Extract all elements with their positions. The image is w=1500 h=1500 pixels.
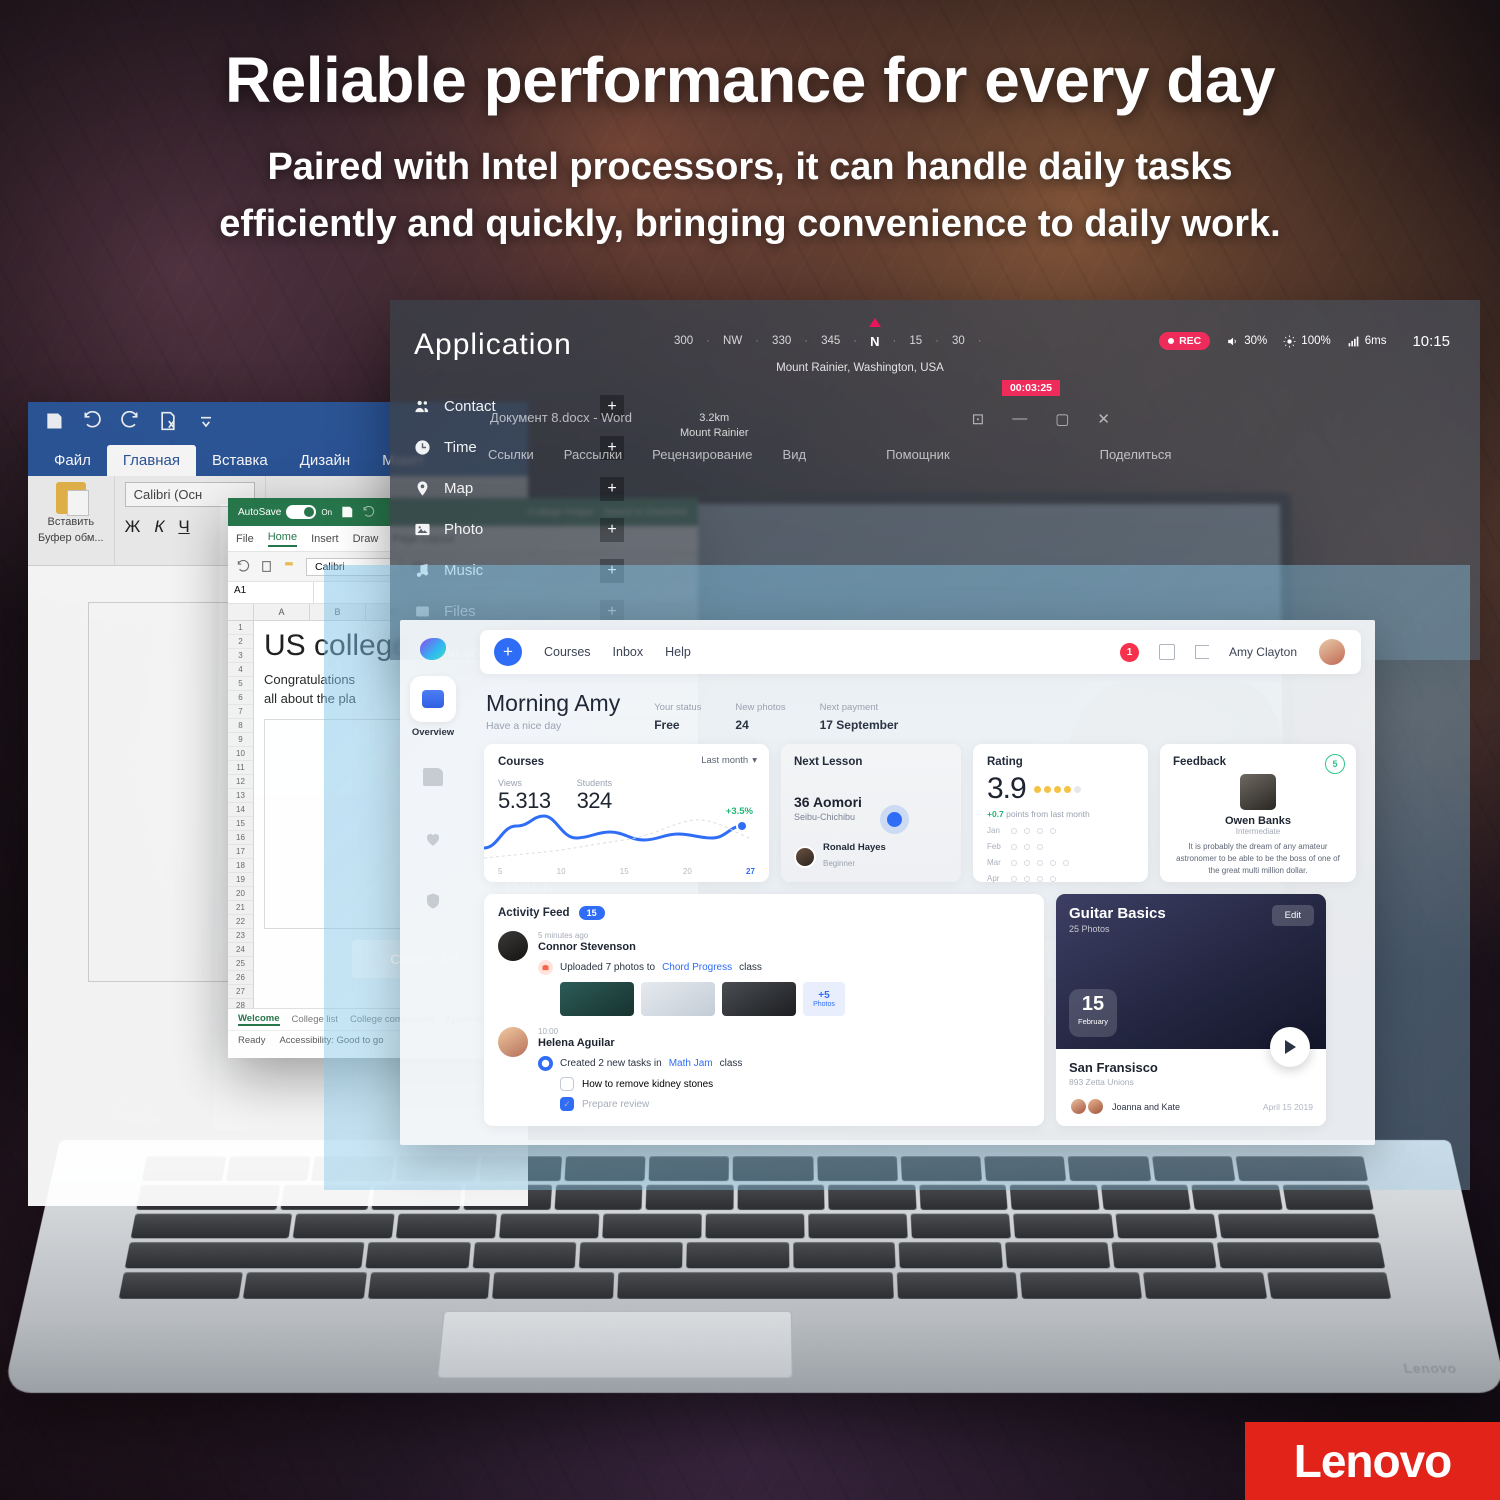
feedback-author: Owen Banks — [1173, 815, 1343, 827]
key-shift-right[interactable] — [1217, 1243, 1385, 1269]
page-title: Reliable performance for every day — [0, 46, 1500, 115]
key[interactable] — [293, 1213, 395, 1238]
lesson-teacher[interactable]: Ronald Hayes Beginner — [794, 842, 886, 871]
activity-action-suffix: class — [739, 962, 762, 973]
notification-badge[interactable]: 1 — [1120, 643, 1139, 662]
map-distance: 3.2km — [680, 412, 748, 424]
rating-dot — [1054, 786, 1061, 793]
edit-button[interactable]: Edit — [1272, 905, 1314, 926]
key[interactable] — [602, 1213, 701, 1238]
activity-feed-card[interactable]: Activity Feed 15 5 minutes ago Connor St… — [484, 894, 1044, 1126]
feedback-card-title: Feedback — [1173, 756, 1343, 768]
next-lesson-card[interactable]: Next Lesson 36 Aomori Seibu-Chichibu Ron… — [781, 744, 961, 882]
month-dot — [1037, 828, 1043, 834]
dashboard-sidebar[interactable]: Overview — [400, 620, 466, 1145]
row-header[interactable]: 2 — [228, 635, 253, 649]
autosave-state: On — [321, 508, 332, 517]
hero-text-block: Reliable performance for every day Paire… — [0, 46, 1500, 253]
brightness-icon — [1283, 335, 1296, 348]
chevron-down-icon: ▾ — [752, 755, 757, 766]
play-button[interactable] — [1270, 1027, 1310, 1067]
task-icon — [538, 1056, 553, 1071]
autosave-label: AutoSave — [238, 507, 281, 518]
signal-icon — [1347, 335, 1360, 348]
activity-action-link[interactable]: Math Jam — [669, 1058, 713, 1069]
key[interactable] — [899, 1243, 1003, 1269]
paste-button[interactable]: Вставить — [38, 482, 104, 528]
key[interactable] — [1115, 1213, 1217, 1238]
keyboard-row — [125, 1243, 1386, 1269]
activity-item[interactable]: 5 minutes ago Connor Stevenson Uploaded … — [498, 931, 1030, 1016]
latency-value: 6ms — [1365, 335, 1387, 347]
hero-subtitle: Paired with Intel processors, it can han… — [0, 139, 1500, 253]
row-header[interactable]: 4 — [228, 663, 253, 677]
feedback-quote: It is probably the dream of any amateur … — [1173, 841, 1343, 877]
rating-stars — [1034, 786, 1081, 793]
stat-value: 17 September — [820, 718, 899, 732]
clipboard-icon[interactable] — [260, 560, 273, 573]
rating-month-row: Apr — [987, 874, 1134, 883]
key[interactable] — [706, 1213, 805, 1238]
key-arrows[interactable] — [1143, 1272, 1266, 1298]
window-controls[interactable]: ⊡ — ▢ ✕ — [972, 410, 1110, 428]
dashboard-cards-row: Courses Last month ▾ Views 5.313 Student… — [480, 744, 1361, 882]
compass-dot: · — [804, 335, 808, 347]
row-header[interactable]: 12 — [228, 775, 253, 789]
key-win[interactable] — [368, 1272, 490, 1298]
month-dot — [1011, 876, 1017, 882]
key[interactable] — [910, 1213, 1010, 1238]
lesson-sub: Seibu-Chichibu — [794, 812, 948, 822]
user-name[interactable]: Amy Clayton — [1229, 645, 1297, 659]
telemetry-status-group: REC 30% 100% 6ms 10:15 — [1159, 332, 1462, 350]
sidebar-item-favorites[interactable] — [410, 816, 456, 862]
lenovo-logo-badge: Lenovo — [1245, 1422, 1500, 1500]
app-item-photo[interactable]: Photo + — [414, 509, 660, 550]
rating-month-row: Jan — [987, 826, 1134, 835]
status-ready: Ready — [238, 1035, 265, 1046]
row-header[interactable]: 17 — [228, 845, 253, 859]
activity-user: Connor Stevenson — [538, 941, 1030, 953]
activity-thumbnails[interactable]: +5 Photos — [538, 982, 1030, 1016]
save-icon[interactable] — [340, 505, 354, 519]
row-header[interactable]: 19 — [228, 873, 253, 887]
rec-label: REC — [1179, 335, 1201, 347]
rating-month-row: Feb — [987, 842, 1134, 851]
row-header[interactable]: 18 — [228, 859, 253, 873]
axis-tick: 15 — [620, 867, 629, 876]
sidebar-item-overview[interactable] — [410, 676, 456, 722]
dashboard-topbar[interactable]: + Courses Inbox Help 1 Amy Clayton — [480, 630, 1361, 674]
word-tab-view[interactable]: Вид — [783, 447, 807, 462]
more-photos-count: +5 — [818, 990, 829, 1001]
folder-icon — [423, 768, 443, 786]
bold-button[interactable]: Ж — [125, 517, 141, 537]
month-label: Feb — [987, 842, 1004, 851]
more-photos-label: Photos — [813, 1001, 835, 1008]
task-label: How to remove kidney stones — [582, 1079, 713, 1090]
play-icon — [1285, 1040, 1296, 1054]
save-icon[interactable] — [44, 411, 64, 431]
stat-label: Next payment — [820, 702, 899, 713]
greeting-subtitle: Have a nice day — [486, 720, 620, 732]
courses-card[interactable]: Courses Last month ▾ Views 5.313 Student… — [484, 744, 769, 882]
avatar — [1240, 774, 1276, 810]
excel-row-headers: 1234567891011121314151617181920212223242… — [228, 621, 254, 1008]
telemetry-timer: 00:03:25 — [1002, 380, 1060, 396]
activity-feed-header: Activity Feed 15 — [498, 906, 1030, 920]
key[interactable] — [1005, 1243, 1110, 1269]
key-fn[interactable] — [243, 1272, 366, 1298]
activity-feed-title: Activity Feed — [498, 907, 570, 919]
lesson-name: 36 Aomori — [794, 794, 948, 810]
pin-icon — [414, 480, 431, 497]
row-header[interactable]: 26 — [228, 971, 253, 985]
row-header[interactable]: 6 — [228, 691, 253, 705]
rating-month-row: Mar — [987, 858, 1134, 867]
row-header[interactable]: 14 — [228, 803, 253, 817]
month-label: Apr — [987, 874, 1004, 883]
activity-action-link[interactable]: Chord Progress — [662, 962, 732, 973]
word-clipboard-group[interactable]: Вставить Буфер обм... — [28, 476, 115, 565]
paste-label: Вставить — [47, 516, 94, 528]
map-distance-block: 3.2km Mount Rainier — [680, 412, 748, 439]
word-share-button[interactable]: Поделиться — [1100, 447, 1172, 462]
key-capslock[interactable] — [131, 1213, 293, 1238]
row-header[interactable]: 24 — [228, 943, 253, 957]
rec-dot-icon — [1168, 338, 1174, 344]
key-shift[interactable] — [125, 1243, 365, 1269]
rating-dot — [1034, 786, 1041, 793]
compass-345: 345 — [821, 335, 840, 347]
lenovo-wordmark: Lenovo — [1294, 1434, 1452, 1488]
compass-330: 330 — [772, 335, 791, 347]
app-add-photo-button[interactable]: + — [600, 518, 624, 542]
stat-label: Your status — [654, 702, 701, 713]
guitar-card-date: April 15 2019 — [1263, 1102, 1313, 1112]
trackpad[interactable] — [437, 1311, 793, 1378]
checkbox-checked[interactable]: ✓ — [560, 1097, 574, 1111]
lesson-card-title: Next Lesson — [794, 756, 948, 768]
key[interactable] — [1111, 1243, 1217, 1269]
activity-action-suffix: class — [720, 1058, 743, 1069]
stat-next-payment: Next payment 17 September — [820, 702, 899, 732]
photo-thumbnail[interactable] — [560, 982, 634, 1016]
avatar — [1086, 1097, 1105, 1116]
word-helper-button[interactable]: Помощник — [886, 447, 950, 462]
nav-courses[interactable]: Courses — [544, 645, 591, 659]
key-ctrl[interactable] — [119, 1272, 243, 1298]
row-header[interactable]: 11 — [228, 761, 253, 775]
paste-icon — [56, 482, 86, 514]
more-icon[interactable] — [196, 411, 216, 431]
close-icon[interactable]: ✕ — [1097, 410, 1110, 428]
key[interactable] — [808, 1213, 907, 1238]
stat-value: 24 — [735, 718, 785, 732]
key[interactable] — [686, 1243, 789, 1269]
volume-value: 30% — [1244, 335, 1267, 347]
feedback-author-level: Intermediate — [1173, 827, 1343, 836]
status-badge-rec: REC — [1159, 332, 1210, 350]
row-header[interactable]: 20 — [228, 887, 253, 901]
autosave-switch[interactable] — [286, 505, 316, 519]
telemetry-bar: 300 · NW · 330 · 345 · N · 15 · 30 · REC… — [660, 300, 1480, 420]
sidebar-item-folder[interactable] — [410, 754, 456, 800]
key[interactable] — [499, 1213, 599, 1238]
month-dot — [1011, 860, 1017, 866]
hero-subtitle-line-1: Paired with Intel processors, it can han… — [0, 139, 1500, 196]
guitar-card-people: Joanna and Kate April 15 2019 — [1069, 1097, 1313, 1116]
undo-icon[interactable] — [362, 506, 375, 519]
app-item-label: Photo — [444, 521, 483, 538]
camera-icon — [538, 960, 553, 975]
dashboard-main[interactable]: + Courses Inbox Help 1 Amy Clayton Morni… — [466, 620, 1375, 1145]
dashboard-lower-row: Activity Feed 15 5 minutes ago Connor St… — [480, 882, 1361, 1126]
restore-icon[interactable]: ⊡ — [972, 410, 985, 428]
key[interactable] — [579, 1243, 682, 1269]
keyboard-row — [119, 1272, 1391, 1298]
name-box[interactable]: A1 — [228, 582, 314, 603]
row-header[interactable]: 25 — [228, 957, 253, 971]
nav-help[interactable]: Help — [665, 645, 691, 659]
excel-tab-insert[interactable]: Insert — [311, 533, 339, 545]
compass-dot: · — [978, 335, 982, 347]
month-dot — [1063, 860, 1069, 866]
app-logo-icon — [420, 638, 446, 660]
month-label: Mar — [987, 858, 1004, 867]
more-photos-button[interactable]: +5 Photos — [803, 982, 845, 1016]
avatar[interactable] — [1317, 637, 1347, 667]
avatar — [498, 931, 528, 961]
activity-item[interactable]: 10:00 Helena Aguilar Created 2 new tasks… — [498, 1027, 1030, 1111]
axis-tick: 5 — [498, 867, 502, 876]
key-alt-right[interactable] — [896, 1272, 1017, 1298]
compass-15: 15 — [909, 335, 922, 347]
brightness-indicator: 100% — [1283, 335, 1330, 348]
keyboard-row — [131, 1213, 1380, 1238]
heart-icon — [423, 830, 443, 848]
activity-action-prefix: Created 2 new tasks in — [560, 1058, 662, 1069]
compass-dot: · — [755, 335, 759, 347]
axis-tick: 20 — [683, 867, 692, 876]
rating-card-title: Rating — [987, 756, 1134, 768]
key-alt[interactable] — [492, 1272, 613, 1298]
key[interactable] — [1013, 1213, 1114, 1238]
date-day: 15 — [1069, 994, 1117, 1014]
task-row[interactable]: How to remove kidney stones — [538, 1077, 1030, 1091]
row-header[interactable]: 7 — [228, 705, 253, 719]
guitar-card-people-names: Joanna and Kate — [1112, 1102, 1180, 1112]
compass-30: 30 — [952, 335, 965, 347]
feedback-card[interactable]: Feedback 5 Owen Banks Intermediate It is… — [1160, 744, 1356, 882]
select-all-corner[interactable] — [228, 604, 254, 620]
clipboard-group-label: Буфер обм... — [38, 532, 104, 544]
courses-x-axis: 5 10 15 20 27 — [498, 867, 755, 876]
month-label: Jan — [987, 826, 1004, 835]
checkbox-unchecked[interactable] — [560, 1077, 574, 1091]
row-header[interactable]: 23 — [228, 929, 253, 943]
flag-icon[interactable] — [1195, 645, 1209, 659]
shield-icon — [424, 891, 442, 911]
row-header[interactable]: 10 — [228, 747, 253, 761]
row-header[interactable]: 28 — [228, 999, 253, 1008]
axis-tick-current: 27 — [746, 867, 755, 876]
nav-inbox[interactable]: Inbox — [613, 645, 644, 659]
italic-button[interactable]: К — [154, 517, 164, 537]
month-dot — [1024, 860, 1030, 866]
key[interactable] — [396, 1213, 497, 1238]
topbar-right-group[interactable]: 1 Amy Clayton — [1120, 637, 1347, 667]
rating-delta-text: points from last month — [1006, 809, 1090, 819]
month-dot — [1011, 828, 1017, 834]
activity-count-badge: 15 — [579, 906, 605, 920]
compass-dot: · — [935, 335, 939, 347]
latency-indicator: 6ms — [1347, 335, 1387, 348]
guitar-card-date-badge: 15 February — [1069, 989, 1117, 1037]
greeting-text: Morning Amy Have a nice day — [486, 690, 620, 732]
avatar — [794, 846, 816, 868]
dashboard-window[interactable]: Overview + Courses Inbox Help 1 Amy Clay… — [400, 620, 1375, 1145]
application-title: Application — [414, 328, 660, 362]
key-arrows[interactable] — [1267, 1272, 1391, 1298]
column-header-a[interactable]: A — [254, 604, 310, 620]
photo-thumbnail[interactable] — [722, 982, 796, 1016]
row-header[interactable]: 15 — [228, 817, 253, 831]
rating-delta-value: +0.7 — [987, 809, 1004, 819]
avatar — [498, 1027, 528, 1057]
undo-icon[interactable] — [82, 411, 102, 431]
key-enter[interactable] — [1217, 1213, 1379, 1238]
underline-button[interactable]: Ч — [178, 517, 189, 537]
key-ctrl-right[interactable] — [1020, 1272, 1142, 1298]
greeting-title: Morning Amy — [486, 690, 620, 717]
telemetry-location: Mount Rainier, Washington, USA — [660, 362, 1060, 374]
word-tab-file[interactable]: Файл — [38, 445, 107, 476]
activity-action: Created 2 new tasks in Math Jam class — [538, 1056, 1030, 1071]
guitar-card-photo: Guitar Basics 25 Photos Edit 15 February — [1056, 894, 1326, 1049]
compass-nw: NW — [723, 335, 742, 347]
row-header[interactable]: 13 — [228, 789, 253, 803]
volume-icon — [1226, 335, 1239, 348]
sheet-tab-welcome[interactable]: Welcome — [238, 1013, 280, 1026]
metric-label: Students — [577, 778, 613, 788]
word-tab-design[interactable]: Дизайн — [284, 445, 366, 476]
row-header[interactable]: 8 — [228, 719, 253, 733]
rating-delta: +0.7 points from last month — [987, 809, 1134, 819]
sidebar-item-security[interactable] — [410, 878, 456, 924]
axis-tick: 10 — [557, 867, 566, 876]
hero-subtitle-line-2: efficiently and quickly, bringing conven… — [0, 196, 1500, 253]
activity-user: Helena Aguilar — [538, 1037, 1030, 1049]
activity-time: 5 minutes ago — [538, 931, 1030, 940]
feedback-count-badge: 5 — [1325, 754, 1345, 774]
key[interactable] — [793, 1243, 896, 1269]
compass-dot: · — [706, 335, 710, 347]
word-tab-review[interactable]: Рецензирование — [652, 447, 752, 462]
rating-card[interactable]: Rating 3.9 +0.7 points from last month — [973, 744, 1148, 882]
rating-score-row: 3.9 — [987, 772, 1134, 806]
add-button[interactable]: + — [494, 638, 522, 666]
rating-dot — [1064, 786, 1071, 793]
month-dot — [1037, 876, 1043, 882]
row-header[interactable]: 22 — [228, 915, 253, 929]
key-space[interactable] — [617, 1272, 894, 1298]
row-header[interactable]: 27 — [228, 985, 253, 999]
brightness-value: 100% — [1301, 335, 1330, 347]
task-label: Prepare review — [582, 1099, 649, 1110]
rating-dot — [1044, 786, 1051, 793]
month-dot — [1024, 876, 1030, 882]
word-document-titlebar-overlay: Документ 8.docx - Word Ссылки Рассылки Р… — [466, 404, 1126, 476]
teacher-level: Beginner — [823, 859, 855, 868]
export-icon[interactable] — [158, 411, 178, 431]
task-row[interactable]: ✓ Prepare review — [538, 1097, 1030, 1111]
guitar-basics-card[interactable]: Guitar Basics 25 Photos Edit 15 February… — [1056, 894, 1326, 1126]
row-header[interactable]: 21 — [228, 901, 253, 915]
activity-action-prefix: Uploaded 7 photos to — [560, 962, 655, 973]
calendar-icon[interactable] — [1159, 644, 1175, 660]
row-header[interactable]: 1 — [228, 621, 253, 635]
row-header[interactable]: 9 — [228, 733, 253, 747]
excel-tab-file[interactable]: File — [236, 533, 254, 545]
minimize-icon[interactable]: — — [1012, 410, 1027, 428]
lenovo-deck-logo: Lenovo — [1402, 1361, 1458, 1377]
activity-time: 10:00 — [538, 1027, 1030, 1036]
range-dropdown[interactable]: Last month ▾ — [701, 755, 757, 766]
autosave-toggle[interactable]: AutoSave On — [238, 505, 332, 519]
month-dot — [1024, 844, 1030, 850]
contacts-icon — [414, 398, 431, 415]
excel-tab-draw[interactable]: Draw — [353, 533, 379, 545]
photo-thumbnail[interactable] — [641, 982, 715, 1016]
word-tab-mailings[interactable]: Рассылки — [564, 447, 622, 462]
row-header[interactable]: 16 — [228, 831, 253, 845]
app-add-map-button[interactable]: + — [600, 477, 624, 501]
sidebar-item-label: Overview — [400, 727, 466, 738]
compass-dot: · — [893, 335, 897, 347]
undo-icon[interactable] — [236, 560, 250, 574]
activity-action: Uploaded 7 photos to Chord Progress clas… — [538, 960, 1030, 975]
rating-dot-empty — [1074, 786, 1081, 793]
key[interactable] — [472, 1243, 576, 1269]
word-secondary-tabs[interactable]: Ссылки Рассылки Рецензирование Вид Помощ… — [466, 425, 1126, 462]
month-dot — [1050, 860, 1056, 866]
key[interactable] — [365, 1243, 470, 1269]
clock: 10:15 — [1412, 333, 1450, 350]
row-header[interactable]: 5 — [228, 677, 253, 691]
format-painter-icon[interactable] — [283, 560, 296, 573]
word-tab-insert[interactable]: Вставка — [196, 445, 284, 476]
excel-tab-home[interactable]: Home — [268, 531, 297, 547]
maximize-icon[interactable]: ▢ — [1055, 410, 1069, 428]
guitar-card-address: 893 Zetta Unions — [1069, 1077, 1313, 1087]
compass-north-marker: N — [870, 334, 879, 349]
courses-sparkline-chart — [484, 804, 769, 862]
month-dot — [1050, 876, 1056, 882]
stat-value: Free — [654, 718, 701, 732]
date-month: February — [1069, 1017, 1117, 1026]
word-tab-home[interactable]: Главная — [107, 445, 196, 476]
month-dot — [1050, 828, 1056, 834]
clock-icon — [414, 439, 431, 456]
volume-indicator: 30% — [1226, 335, 1267, 348]
compass-strip: 300 · NW · 330 · 345 · N · 15 · 30 · REC… — [660, 300, 1480, 350]
redo-icon[interactable] — [120, 411, 140, 431]
word-tab-references[interactable]: Ссылки — [488, 447, 534, 462]
stat-status: Your status Free — [654, 702, 701, 732]
row-header[interactable]: 3 — [228, 649, 253, 663]
metric-label: Views — [498, 778, 551, 788]
